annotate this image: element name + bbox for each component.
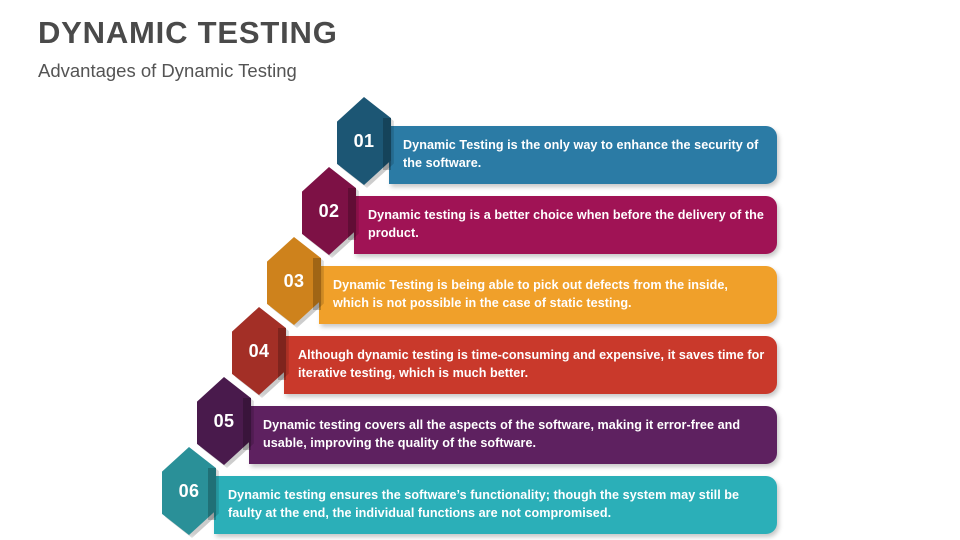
step-bar-1[interactable]: Dynamic Testing is the only way to enhan… (389, 126, 777, 184)
step-bar-3[interactable]: Dynamic Testing is being able to pick ou… (319, 266, 777, 324)
step-text-2: Dynamic testing is a better choice when … (354, 207, 777, 243)
step-text-1: Dynamic Testing is the only way to enhan… (389, 137, 777, 173)
steps-diagram: Dynamic Testing is the only way to enhan… (0, 0, 960, 540)
step-text-5: Dynamic testing covers all the aspects o… (249, 417, 777, 453)
step-text-3: Dynamic Testing is being able to pick ou… (319, 277, 777, 313)
step-text-4: Although dynamic testing is time-consumi… (284, 347, 777, 383)
step-bar-6[interactable]: Dynamic testing ensures the software’s f… (214, 476, 777, 534)
step-bar-2[interactable]: Dynamic testing is a better choice when … (354, 196, 777, 254)
step-bar-4[interactable]: Although dynamic testing is time-consumi… (284, 336, 777, 394)
step-text-6: Dynamic testing ensures the software’s f… (214, 487, 777, 523)
step-bar-5[interactable]: Dynamic testing covers all the aspects o… (249, 406, 777, 464)
